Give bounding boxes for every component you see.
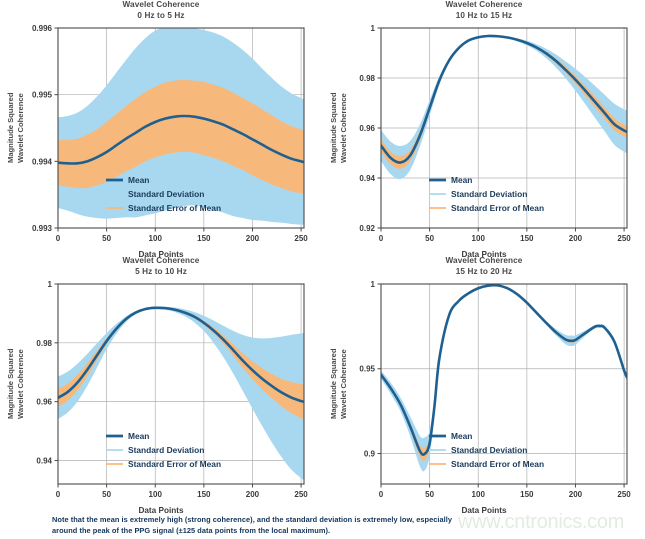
legend-item-standard-deviation-label: Standard Deviation <box>451 189 527 199</box>
legend-item-mean: Mean <box>106 431 149 441</box>
x-tick-label: 100 <box>149 490 163 499</box>
legend-item-mean-label: Mean <box>451 175 472 185</box>
y-tick-label: 0.94 <box>36 456 52 465</box>
chart-panel-0-5hz: Wavelet Coherence0 Hz to 5 HzMagnitude S… <box>0 0 322 255</box>
x-tick-label: 250 <box>294 490 308 499</box>
legend-item-mean: Mean <box>429 431 472 441</box>
y-tick-label: 0.993 <box>32 224 53 233</box>
x-tick-label: 50 <box>102 490 111 499</box>
x-tick-label: 200 <box>569 234 583 243</box>
x-tick-label: 250 <box>294 234 308 243</box>
x-tick-label: 200 <box>569 490 583 499</box>
legend-item-standard-deviation-label: Standard Deviation <box>451 445 527 455</box>
plot-area: 0501001502002500.920.940.960.981MeanStan… <box>323 0 645 255</box>
x-tick-label: 150 <box>197 234 211 243</box>
plot-area: 0501001502002500.9930.9940.9950.996MeanS… <box>0 0 322 255</box>
standard-deviation-band <box>381 35 627 179</box>
x-tick-label: 0 <box>379 234 384 243</box>
y-tick-label: 0.96 <box>359 124 375 133</box>
x-tick-label: 0 <box>56 490 61 499</box>
y-tick-label: 0.98 <box>359 74 375 83</box>
legend-item-standard-deviation: Standard Deviation <box>106 445 204 455</box>
mean-line <box>381 285 627 455</box>
wavelet-coherence-figure: Wavelet Coherence0 Hz to 5 HzMagnitude S… <box>0 0 645 539</box>
x-tick-label: 0 <box>379 490 384 499</box>
y-tick-label: 1 <box>371 280 376 289</box>
y-tick-label: 0.94 <box>359 174 375 183</box>
x-tick-label: 100 <box>149 234 163 243</box>
y-tick-label: 0.96 <box>36 398 52 407</box>
legend-item-standard-error-label: Standard Error of Mean <box>128 203 221 213</box>
y-tick-label: 0.95 <box>359 365 375 374</box>
x-tick-label: 0 <box>56 234 61 243</box>
x-tick-label: 250 <box>617 490 631 499</box>
chart-panel-15-20hz: Wavelet Coherence15 Hz to 20 HzMagnitude… <box>323 256 645 511</box>
legend-item-standard-error: Standard Error of Mean <box>429 459 544 469</box>
watermark: www.cntronics.com <box>458 511 624 534</box>
y-tick-label: 1 <box>371 24 376 33</box>
legend-item-mean-label: Mean <box>128 175 149 185</box>
plot-area: 0501001502002500.90.951MeanStandard Devi… <box>323 256 645 511</box>
legend-item-mean-label: Mean <box>451 431 472 441</box>
legend-item-standard-deviation: Standard Deviation <box>429 189 527 199</box>
x-tick-label: 250 <box>617 234 631 243</box>
x-tick-label: 50 <box>425 234 434 243</box>
y-tick-label: 1 <box>48 280 53 289</box>
x-tick-label: 150 <box>520 490 534 499</box>
legend-item-standard-error: Standard Error of Mean <box>429 203 544 213</box>
plot-area: 0501001502002500.940.960.981MeanStandard… <box>0 256 322 511</box>
y-tick-label: 0.92 <box>359 224 375 233</box>
x-tick-label: 150 <box>520 234 534 243</box>
x-tick-label: 50 <box>102 234 111 243</box>
y-tick-label: 0.995 <box>32 91 53 100</box>
legend-item-standard-error-label: Standard Error of Mean <box>451 203 544 213</box>
caption-line-1: Note that the mean is extremely high (st… <box>52 515 414 524</box>
legend-item-standard-deviation-label: Standard Deviation <box>128 189 204 199</box>
legend-item-standard-deviation-label: Standard Deviation <box>128 445 204 455</box>
x-tick-label: 100 <box>472 490 486 499</box>
legend-item-standard-error-label: Standard Error of Mean <box>451 459 544 469</box>
chart-panel-10-15hz: Wavelet Coherence10 Hz to 15 HzMagnitude… <box>323 0 645 255</box>
x-tick-label: 50 <box>425 490 434 499</box>
x-tick-label: 100 <box>472 234 486 243</box>
x-tick-label: 200 <box>246 234 260 243</box>
chart-panel-5-10hz: Wavelet Coherence5 Hz to 10 HzMagnitude … <box>0 256 322 511</box>
y-tick-label: 0.98 <box>36 339 52 348</box>
y-tick-label: 0.9 <box>364 449 376 458</box>
x-tick-label: 150 <box>197 490 211 499</box>
legend-item-mean-label: Mean <box>128 431 149 441</box>
legend-item-standard-error-label: Standard Error of Mean <box>128 459 221 469</box>
y-tick-label: 0.994 <box>32 157 53 166</box>
x-tick-label: 200 <box>246 490 260 499</box>
legend-item-mean: Mean <box>429 175 472 185</box>
y-tick-label: 0.996 <box>32 24 53 33</box>
figure-caption: Note that the mean is extremely high (st… <box>52 514 472 536</box>
